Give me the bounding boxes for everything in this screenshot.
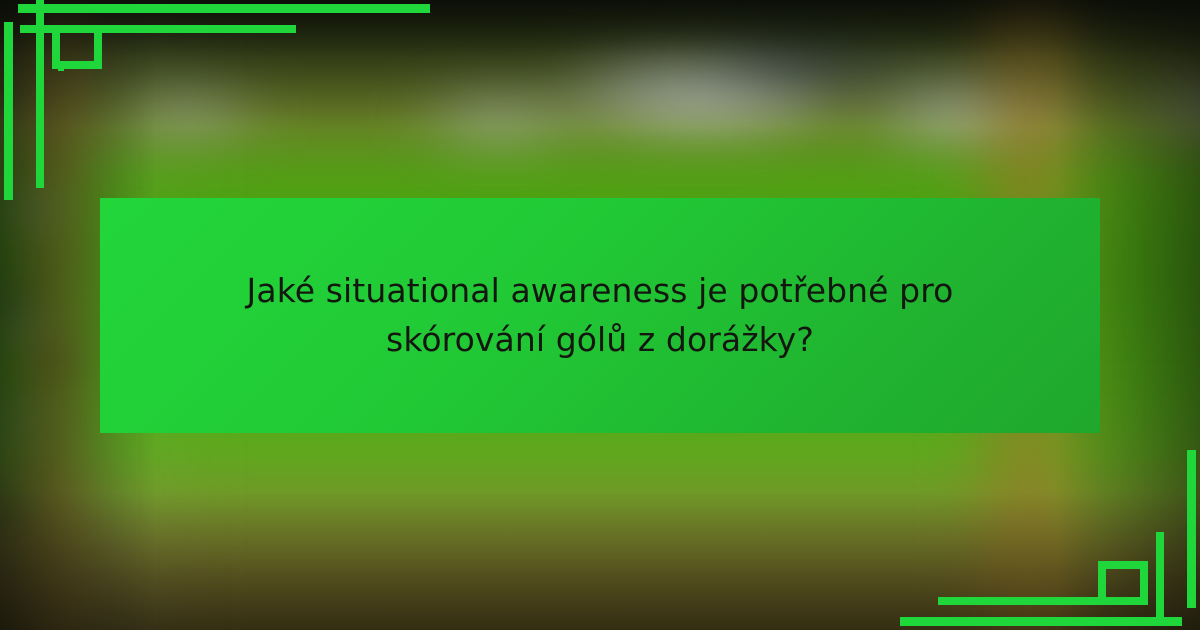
question-text: Jaké situational awareness je potřebné p… — [220, 267, 980, 364]
question-card-canvas: Jaké situational awareness je potřebné p… — [0, 0, 1200, 630]
question-panel: Jaké situational awareness je potřebné p… — [100, 198, 1100, 433]
